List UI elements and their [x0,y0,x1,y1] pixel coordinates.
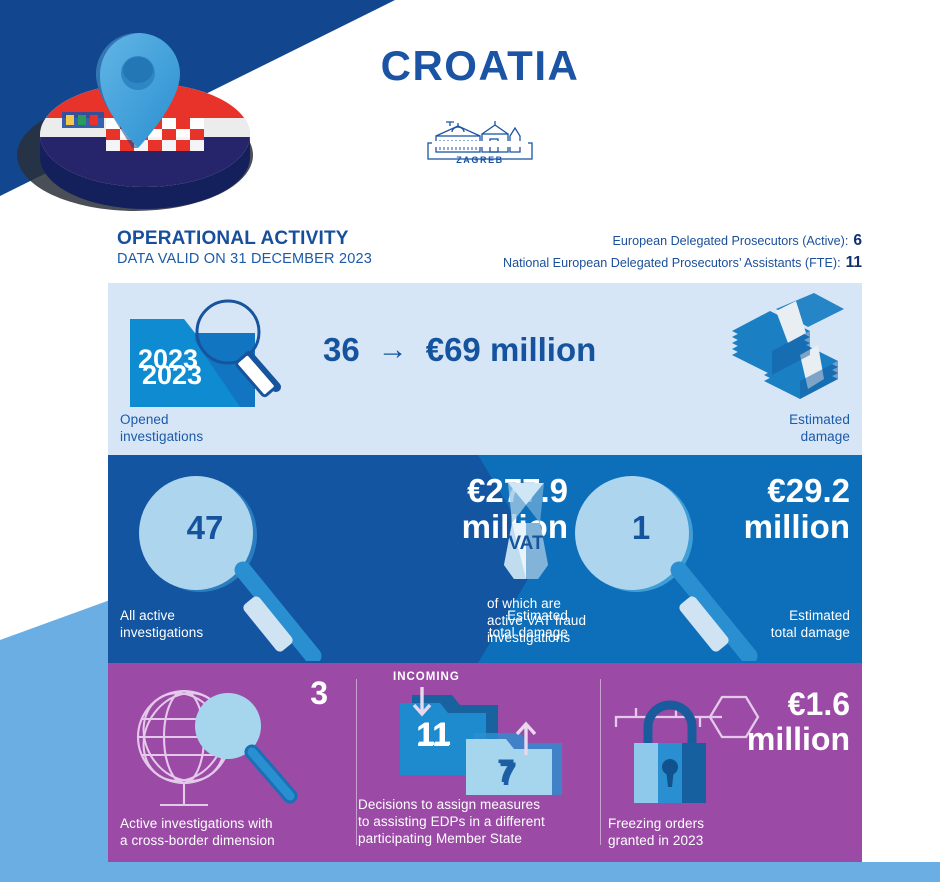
operational-title: OPERATIONAL ACTIVITY [117,228,372,250]
active-investigations-label: All active investigations [120,607,203,641]
hero-header: CROATIA [0,0,940,215]
freezing-orders-amount: €1.6 million [650,687,850,757]
incoming-title: INCOMING [393,671,460,683]
cross-border-count: 3 [268,675,328,712]
assign-measures-label: Decisions to assign measures to assistin… [358,796,573,847]
panel-active-investigations: 47 All active investigations €277.9 mill… [108,455,862,663]
city-badge: ZAGREB [420,120,540,175]
edp-assistants-label: National European Delegated Prosecutors’… [503,256,841,270]
operational-activity-header: OPERATIONAL ACTIVITY DATA VALID ON 31 DE… [117,228,372,269]
city-label: ZAGREB [420,155,540,165]
arrow-right-icon: → [378,333,408,367]
vat-investigations-label: of which are active VAT fraud investigat… [487,595,617,646]
panel-opened-investigations: 2023 2023 Opened investigations 36 → €69… [108,283,862,455]
estimated-total-damage-label-2: Estimated total damage [690,607,850,641]
edp-active-row: European Delegated Prosecutors (Active):… [503,230,862,252]
incoming-count: 11 [408,717,458,754]
panel-cross-border: 3 Active investigations with a cross-bor… [108,663,862,862]
freezing-orders-label: Freezing orders granted in 2023 [608,815,788,849]
edp-active-label: European Delegated Prosecutors (Active): [612,234,848,248]
opened-stat-line: 36 → €69 million [323,327,683,373]
edp-assistants-row: National European Delegated Prosecutors’… [503,252,862,274]
croatia-flag-disc-icon [0,0,290,215]
svg-text:VAT: VAT [508,533,544,554]
active-investigations-count: 47 [170,509,240,547]
zagreb-skyline-icon [420,120,540,160]
outgoing-count: 7 [486,753,526,790]
opened-investigations-label: Opened investigations [120,411,203,445]
edp-assistants-value: 11 [846,254,862,271]
opened-count: 36 [323,331,360,369]
edp-stats: European Delegated Prosecutors (Active):… [503,230,862,274]
estimated-total-damage-amount-2: €29.2 million [650,473,850,545]
opened-amount: €69 million [426,331,597,369]
money-stack-icon [724,293,844,408]
folder-year: 2023 [138,344,198,375]
page-title: CROATIA [330,42,630,90]
estimated-damage-label: Estimated damage [789,411,850,445]
edp-active-value: 6 [853,232,862,249]
panel-divider-1 [356,679,357,845]
operational-subtitle: DATA VALID ON 31 DECEMBER 2023 [117,250,372,269]
cross-border-label: Active investigations with a cross-borde… [120,815,275,849]
